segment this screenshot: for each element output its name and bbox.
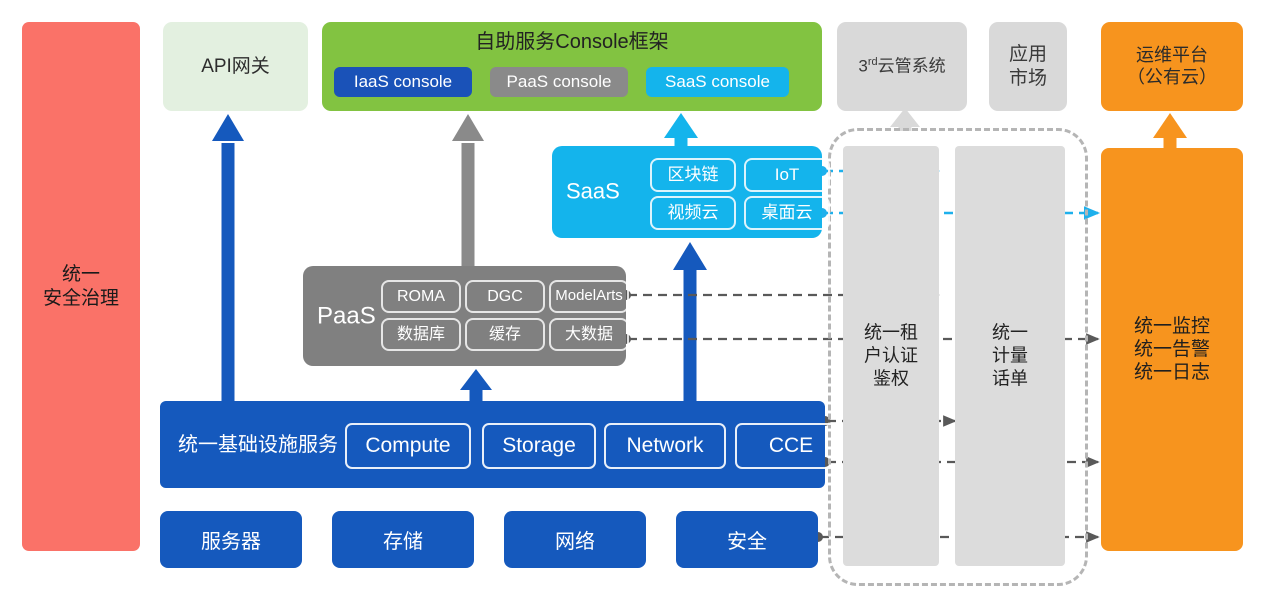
hardware-security-label: 安全: [727, 525, 767, 554]
ops-column-line-1: 统一监控: [1134, 315, 1210, 338]
app-market-line-1: 应用: [1009, 43, 1047, 66]
saas-chip-desktop-cloud[interactable]: 桌面云: [744, 196, 830, 230]
saas-label: SaaS: [566, 179, 620, 206]
auth-line-1: 统一租: [843, 321, 939, 344]
iaas-chip-storage-label: Storage: [502, 433, 576, 459]
saas-console-label: SaaS console: [665, 72, 770, 93]
meter-line-3: 话单: [955, 368, 1065, 391]
saas-chip-blockchain-label: 区块链: [668, 165, 719, 186]
iaas-label: 统一基础设施服务: [178, 432, 338, 456]
paas-chip-modelarts-label: ModelArts: [555, 287, 623, 305]
iaas-chip-cce[interactable]: CCE: [735, 423, 847, 469]
paas-chip-cache[interactable]: 缓存: [465, 318, 545, 351]
saas-chip-desktop-cloud-label: 桌面云: [762, 203, 813, 224]
paas-chip-roma-label: ROMA: [397, 287, 445, 307]
arrow-iaas-to-paas: [460, 369, 492, 401]
security-line-1: 统一: [43, 263, 119, 286]
unified-monitoring-column[interactable]: 统一监控 统一告警 统一日志: [1101, 148, 1243, 551]
arrow-saas-to-saas-console: [664, 113, 698, 146]
app-market-line-2: 市场: [1009, 67, 1047, 90]
third-party-superscript: rd: [868, 56, 878, 68]
paas-chip-bigdata-label: 大数据: [565, 325, 613, 345]
unified-tenant-auth-text: 统一租 户认证 鉴权: [843, 321, 939, 390]
ops-top-line-1: 运维平台: [1127, 45, 1217, 67]
arrow-ops-column-to-ops-platform: [1153, 113, 1187, 148]
iaas-chip-network-label: Network: [626, 433, 703, 459]
hardware-storage-box[interactable]: 存储: [332, 511, 474, 568]
console-framework-title: 自助服务Console框架: [322, 30, 822, 54]
saas-chip-video-cloud-label: 视频云: [668, 203, 719, 224]
paas-label: PaaS: [317, 301, 376, 330]
console-framework-box[interactable]: 自助服务Console框架 IaaS console PaaS console …: [322, 22, 822, 111]
arrow-iaas-to-saas: [673, 242, 707, 401]
hardware-network-box[interactable]: 网络: [504, 511, 646, 568]
hardware-server-box[interactable]: 服务器: [160, 511, 302, 568]
saas-chip-iot-label: IoT: [775, 165, 800, 186]
architecture-diagram: 统一 安全治理 API网关 自助服务Console框架 IaaS console…: [0, 0, 1265, 605]
paas-chip-roma[interactable]: ROMA: [381, 280, 461, 313]
iaas-chip-cce-label: CCE: [769, 433, 813, 459]
saas-box[interactable]: SaaS 区块链 IoT 视频云 桌面云: [552, 146, 822, 238]
api-gateway-label: API网关: [201, 55, 270, 78]
paas-chip-modelarts[interactable]: ModelArts: [549, 280, 629, 313]
third-party-suffix: 云管系统: [878, 56, 946, 75]
saas-chip-blockchain[interactable]: 区块链: [650, 158, 736, 192]
iaas-chip-compute[interactable]: Compute: [345, 423, 471, 469]
ops-column-line-3: 统一日志: [1134, 361, 1210, 384]
unified-metering-billing-column[interactable]: 统一 计量 话单: [955, 146, 1065, 566]
iaas-console-label: IaaS console: [354, 72, 452, 93]
arrow-iaas-to-api-gateway: [212, 114, 244, 401]
iaas-chip-storage[interactable]: Storage: [482, 423, 596, 469]
iaas-chip-compute-label: Compute: [365, 433, 450, 459]
saas-chip-video-cloud[interactable]: 视频云: [650, 196, 736, 230]
arrow-paas-to-console: [452, 114, 484, 266]
paas-console-pill[interactable]: PaaS console: [490, 67, 628, 97]
paas-chip-dgc[interactable]: DGC: [465, 280, 545, 313]
saas-console-pill[interactable]: SaaS console: [646, 67, 789, 97]
ops-column-line-2: 统一告警: [1134, 338, 1210, 361]
ops-top-line-2: （公有云）: [1127, 67, 1217, 89]
iaas-infrastructure-bar[interactable]: 统一基础设施服务 Compute Storage Network CCE: [160, 401, 825, 488]
unified-metering-billing-text: 统一 计量 话单: [955, 321, 1065, 390]
paas-box[interactable]: PaaS ROMA DGC ModelArts 数据库 缓存 大数据: [303, 266, 626, 366]
hardware-server-label: 服务器: [201, 525, 261, 554]
app-market-box[interactable]: 应用 市场: [989, 22, 1067, 111]
hardware-security-box[interactable]: 安全: [676, 511, 818, 568]
api-gateway-box[interactable]: API网关: [163, 22, 308, 111]
paas-chip-bigdata[interactable]: 大数据: [549, 318, 629, 351]
ops-platform-public-cloud-box[interactable]: 运维平台 （公有云）: [1101, 22, 1243, 111]
hardware-network-label: 网络: [555, 525, 595, 554]
auth-line-3: 鉴权: [843, 368, 939, 391]
paas-console-label: PaaS console: [507, 72, 612, 93]
paas-chip-database-label: 数据库: [397, 325, 445, 345]
meter-line-2: 计量: [955, 344, 1065, 367]
paas-chip-dgc-label: DGC: [487, 287, 523, 307]
saas-chip-iot[interactable]: IoT: [744, 158, 830, 192]
third-party-cloud-label: 3rd云管系统: [858, 56, 945, 77]
iaas-chip-network[interactable]: Network: [604, 423, 726, 469]
meter-line-1: 统一: [955, 321, 1065, 344]
auth-line-2: 户认证: [843, 344, 939, 367]
third-party-prefix: 3: [858, 56, 867, 75]
hardware-storage-label: 存储: [383, 525, 423, 554]
paas-chip-cache-label: 缓存: [489, 325, 521, 345]
unified-tenant-auth-column[interactable]: 统一租 户认证 鉴权: [843, 146, 939, 566]
security-governance-column[interactable]: 统一 安全治理: [22, 22, 140, 551]
third-party-cloud-mgmt-box[interactable]: 3rd云管系统: [837, 22, 967, 111]
iaas-console-pill[interactable]: IaaS console: [334, 67, 472, 97]
paas-chip-database[interactable]: 数据库: [381, 318, 461, 351]
security-line-2: 安全治理: [43, 287, 119, 310]
